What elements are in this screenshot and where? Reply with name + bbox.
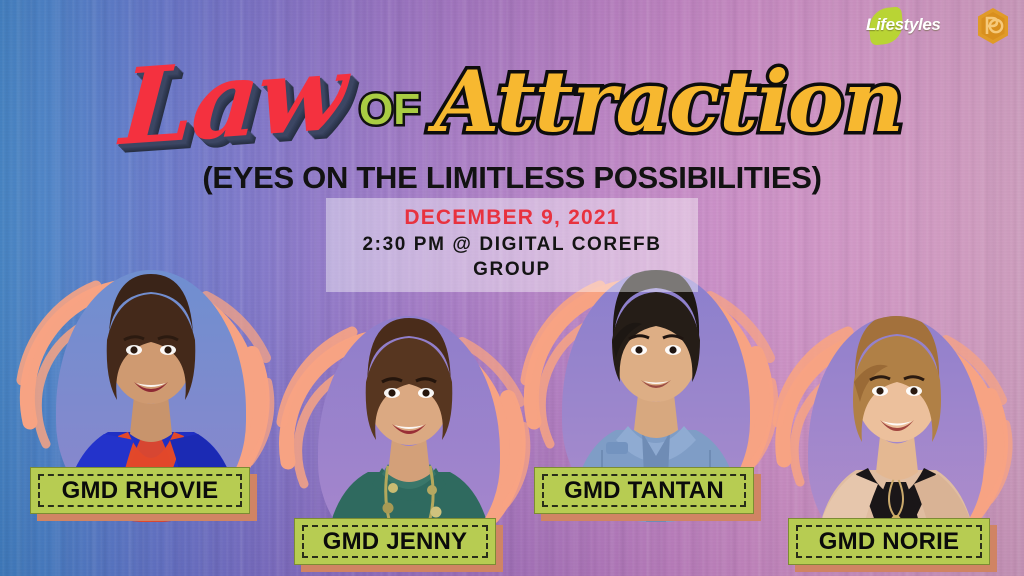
nameplate-body-2: GMD JENNY [294, 518, 496, 565]
title-word-law: Law [118, 40, 349, 160]
logo-group: Lifestyles [866, 6, 1010, 46]
hexagon-badge-logo [976, 7, 1010, 45]
lifestyles-logo: Lifestyles [866, 6, 962, 46]
speaker-nameplate-4: GMD NORIE [788, 518, 990, 565]
speaker-nameplate-1: GMD RHOVIE [30, 467, 250, 514]
lifestyles-logo-text: Lifestyles [866, 15, 962, 35]
speaker-name-3: GMD TANTAN [564, 477, 724, 505]
speaker-card-1: GMD RHOVIE [0, 262, 300, 522]
poster-subtitle: (EYES ON THE LIMITLESS POSSIBILITIES) [0, 160, 1024, 196]
title-word-attraction: Attraction [434, 60, 903, 144]
nameplate-body-1: GMD RHOVIE [30, 467, 250, 514]
title-word-of: OF [359, 88, 420, 132]
speaker-name-2: GMD JENNY [323, 528, 468, 556]
event-poster: Lifestyles Law OF Attraction (EYES ON TH… [0, 0, 1024, 576]
event-details-panel: DECEMBER 9, 2021 2:30 PM @ DIGITAL COREF… [326, 198, 698, 292]
speaker-name-4: GMD NORIE [819, 528, 959, 556]
hexagon-badge-icon [976, 7, 1010, 45]
speaker-name-1: GMD RHOVIE [62, 477, 219, 505]
speaker-card-4: GMD NORIE [762, 312, 1024, 576]
nameplate-body-3: GMD TANTAN [534, 467, 754, 514]
speaker-card-3: GMD TANTAN [504, 262, 804, 522]
speaker-nameplate-3: GMD TANTAN [534, 467, 754, 514]
poster-title: Law OF Attraction [0, 48, 1024, 158]
nameplate-body-4: GMD NORIE [788, 518, 990, 565]
speaker-nameplate-2: GMD JENNY [294, 518, 496, 565]
event-date: DECEMBER 9, 2021 [336, 205, 688, 231]
event-time-venue: 2:30 PM @ DIGITAL COREFB GROUP [336, 233, 688, 282]
